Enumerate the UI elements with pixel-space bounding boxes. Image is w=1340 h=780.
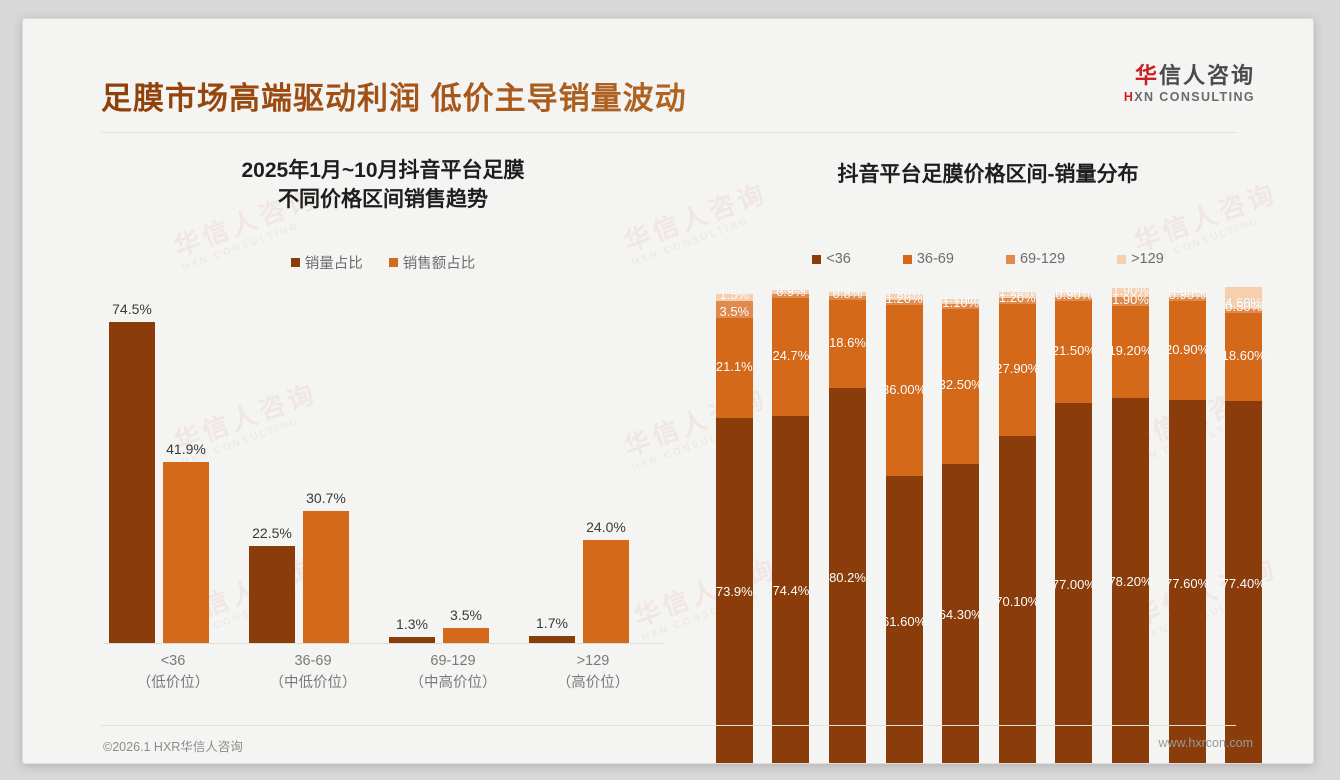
stack-value-label: 77.40% (1222, 576, 1266, 591)
footer-website: www.hxrcon.com (1159, 736, 1253, 750)
slide-header: 足膜市场高端驱动利润 低价主导销量波动 华信人咨询 HXN CONSULTING (23, 19, 1313, 119)
bar-value-label: 41.9% (166, 441, 206, 457)
left-chart-legend: 销量占比销售额占比 (83, 252, 683, 273)
x-axis-label-main: 36-69 (243, 651, 383, 673)
stacked-bar-M9[interactable]: 0.90%0.90%20.90%77.60% (1169, 293, 1206, 764)
stack-value-label: 0.9% (776, 284, 806, 299)
legend-label: >129 (1131, 251, 1164, 267)
x-axis-label-sub: （高价位） (523, 673, 663, 695)
x-axis-label-36-69: 36-69（中低价位） (243, 651, 383, 695)
legend-item-right-2[interactable]: 69-129 (1006, 251, 1065, 267)
left-chart-panel: 2025年1月~10月抖音平台足膜 不同价格区间销售趋势 销量占比销售额占比 7… (83, 139, 683, 709)
legend-swatch-icon (1117, 255, 1126, 264)
bar-value-label: 30.7% (306, 490, 346, 506)
stack-value-label: 24.7% (772, 348, 809, 363)
footer-copyright: ©2026.1 HXR华信人咨询 (103, 736, 243, 755)
legend-label: 销量占比 (305, 252, 363, 273)
stacked-bar-M4[interactable]: 1.20%1.20%36.00%61.60% (886, 294, 923, 764)
stack-value-label: 1.20% (999, 290, 1036, 305)
stack-segment-M7-36-69[interactable]: 21.50% (1055, 301, 1092, 403)
stack-value-label: 18.60% (1222, 348, 1266, 363)
bar->129-销售额占比[interactable]: 24.0% (583, 540, 629, 644)
stack-value-label: 0.50% (1225, 299, 1262, 314)
stack-value-label: 1.10% (942, 295, 979, 310)
bar-fill (249, 546, 295, 643)
stack-segment-M10-36-69[interactable]: 18.60% (1225, 313, 1262, 401)
stack-value-label: 21.1% (716, 359, 753, 374)
stack-value-label: 1.5% (719, 287, 749, 302)
stack-segment-M3-36-69[interactable]: 18.6% (829, 300, 866, 388)
stack-value-label: 73.9% (716, 584, 753, 599)
bar-fill (303, 511, 349, 643)
stack-value-label: 77.00% (1052, 577, 1096, 592)
stack-value-label: 36.00% (882, 382, 926, 397)
stack-segment-M7-<36[interactable]: 77.00% (1055, 403, 1092, 764)
x-axis-label-sub: （中低价位） (243, 673, 383, 695)
stack-segment-M5-36-69[interactable]: 32.50% (942, 309, 979, 463)
legend-swatch-icon (389, 258, 398, 267)
stack-segment-M2-<36[interactable]: 74.4% (772, 416, 809, 764)
bar-value-label: 24.0% (586, 519, 626, 535)
x-axis-label-69-129: 69-129（中高价位） (383, 651, 523, 695)
stacked-bar-M7[interactable]: 0.90%0.90%21.50%77.00% (1055, 293, 1092, 764)
bar-69-129-销售额占比[interactable]: 3.5% (443, 628, 489, 643)
bar-36-69-销售额占比[interactable]: 30.7% (303, 511, 349, 643)
page-title: 足膜市场高端驱动利润 低价主导销量波动 (101, 73, 687, 118)
left-chart-plot-area: 74.5%41.9%22.5%30.7%1.3%3.5%1.7%24.0% (103, 299, 663, 644)
stack-segment-M6-36-69[interactable]: 27.90% (999, 304, 1036, 437)
stack-value-label: 74.4% (772, 583, 809, 598)
slide-canvas: 足膜市场高端驱动利润 低价主导销量波动 华信人咨询 HXN CONSULTING… (22, 18, 1314, 764)
logo-chinese-text: 华信人咨询 (1124, 63, 1255, 88)
legend-item-left-1[interactable]: 销售额占比 (389, 252, 476, 273)
stack-value-label: 70.10% (995, 594, 1039, 609)
stack-segment-M1-<36[interactable]: 73.9% (716, 418, 753, 764)
stack-segment-M3-<36[interactable]: 80.2% (829, 388, 866, 764)
stack-value-label: 0.8% (833, 286, 863, 301)
logo-en-red-char: H (1124, 90, 1134, 104)
stack-value-label: 80.2% (829, 570, 866, 585)
logo-cn-rest: 信人咨询 (1159, 63, 1255, 88)
stack-value-label: 21.50% (1052, 343, 1096, 358)
stack-segment-M2-36-69[interactable]: 24.7% (772, 298, 809, 415)
stack-segment-M1-36-69[interactable]: 21.1% (716, 318, 753, 418)
legend-label: <36 (826, 251, 851, 267)
x-axis-label-main: <36 (103, 651, 243, 673)
x-axis-label->129: >129（高价位） (523, 651, 663, 695)
stacked-bar-M10[interactable]: 4.60%0.50%18.60%77.40% (1225, 287, 1262, 764)
header-divider (101, 132, 1236, 133)
stack-segment-M8-36-69[interactable]: 19.20% (1112, 306, 1149, 397)
x-axis-label-main: 69-129 (383, 651, 523, 673)
stack-value-label: 61.60% (882, 614, 926, 629)
x-axis-label-<36: <36（低价位） (103, 651, 243, 695)
bar-group: 1.7%24.0% (529, 540, 629, 644)
stack-value-label: 0.90% (1169, 287, 1206, 302)
bar-fill (443, 628, 489, 643)
bar-group: 1.3%3.5% (389, 628, 489, 643)
stack-value-label: 78.20% (1108, 574, 1152, 589)
legend-swatch-icon (291, 258, 300, 267)
bar-fill (529, 636, 575, 643)
legend-item-right-3[interactable]: >129 (1117, 251, 1164, 267)
bar-fill (163, 462, 209, 643)
stacked-bar-M3[interactable]: 0.8%0.8%18.6%80.2% (829, 292, 866, 764)
stack-value-label: 1.20% (886, 291, 923, 306)
right-chart-panel: 抖音平台足膜价格区间-销量分布 <3636-6969-129>129 1.5%3… (688, 139, 1288, 709)
bar-group: 74.5%41.9% (109, 322, 209, 643)
stack-segment-M4-36-69[interactable]: 36.00% (886, 305, 923, 476)
stack-segment-M9-<36[interactable]: 77.60% (1169, 400, 1206, 764)
stacked-bar-M8[interactable]: 1.90%1.90%19.20%78.20% (1112, 288, 1149, 764)
stack-value-label: 64.30% (939, 607, 983, 622)
bar-group: 22.5%30.7% (249, 511, 349, 643)
legend-label: 销售额占比 (403, 252, 476, 273)
stack-value-label: 20.90% (1165, 342, 1209, 357)
left-chart-axis-line (103, 643, 663, 644)
bar-value-label: 3.5% (450, 607, 482, 623)
footer-divider (101, 725, 1236, 726)
stack-segment-M9-36-69[interactable]: 20.90% (1169, 301, 1206, 400)
legend-swatch-icon (812, 255, 821, 264)
stack-value-label: 0.90% (1055, 287, 1092, 302)
stack-segment-M6-<36[interactable]: 70.10% (999, 436, 1036, 764)
logo-cn-red-char: 华 (1135, 63, 1159, 88)
right-chart-plot-area: 1.5%3.5%21.1%73.9%0.9%0.9%24.7%74.4%0.8%… (706, 294, 1272, 764)
stack-value-label: 3.5% (719, 304, 749, 319)
bar-fill (109, 322, 155, 643)
company-logo: 华信人咨询 HXN CONSULTING (1124, 63, 1255, 104)
left-chart-title-line1: 2025年1月~10月抖音平台足膜 (83, 157, 683, 186)
bar-value-label: 1.7% (536, 615, 568, 631)
left-chart-x-axis-labels: <36（低价位）36-69（中低价位）69-129（中高价位）>129（高价位） (103, 651, 663, 711)
bar-69-129-销量占比[interactable]: 1.3% (389, 637, 435, 643)
stack-segment-M1->129[interactable]: 1.5% (716, 294, 753, 301)
stack-segment-M8-<36[interactable]: 78.20% (1112, 398, 1149, 764)
bar->129-销量占比[interactable]: 1.7% (529, 636, 575, 643)
stack-segment-M4-<36[interactable]: 61.60% (886, 476, 923, 764)
stack-value-label: 77.60% (1165, 576, 1209, 591)
x-axis-label-sub: （低价位） (103, 673, 243, 695)
logo-english-text: HXN CONSULTING (1124, 90, 1255, 104)
stack-value-label: 18.6% (829, 335, 866, 350)
x-axis-label-main: >129 (523, 651, 663, 673)
right-chart-legend: <3636-6969-129>129 (688, 251, 1288, 267)
stack-value-label: 1.90% (1112, 292, 1149, 307)
bar-value-label: 22.5% (252, 525, 292, 541)
legend-item-right-0[interactable]: <36 (812, 251, 851, 267)
stacked-bar-M2[interactable]: 0.9%0.9%24.7%74.4% (772, 290, 809, 764)
x-axis-label-sub: （中高价位） (383, 673, 523, 695)
stack-value-label: 19.20% (1108, 343, 1152, 358)
bar-<36-销量占比[interactable]: 74.5% (109, 322, 155, 643)
stack-segment-M5-<36[interactable]: 64.30% (942, 464, 979, 764)
stack-segment-M10-<36[interactable]: 77.40% (1225, 401, 1262, 764)
stacked-bar-M1[interactable]: 1.5%3.5%21.1%73.9% (716, 294, 753, 764)
stacked-bar-M6[interactable]: 1.20%1.20%27.90%70.10% (999, 292, 1036, 764)
stack-segment-M8-69-129[interactable]: 1.90% (1112, 297, 1149, 306)
bar-value-label: 74.5% (112, 301, 152, 317)
bar-value-label: 1.3% (396, 616, 428, 632)
legend-swatch-icon (903, 255, 912, 264)
left-chart-title: 2025年1月~10月抖音平台足膜 不同价格区间销售趋势 (83, 157, 683, 215)
right-chart-title: 抖音平台足膜价格区间-销量分布 (688, 161, 1288, 190)
bar-36-69-销量占比[interactable]: 22.5% (249, 546, 295, 643)
legend-label: 69-129 (1020, 251, 1065, 267)
bar-fill (389, 637, 435, 643)
stack-value-label: 32.50% (939, 377, 983, 392)
logo-en-rest: XN CONSULTING (1134, 90, 1255, 104)
stack-segment-M1-69-129[interactable]: 3.5% (716, 301, 753, 318)
left-chart-title-line2: 不同价格区间销售趋势 (83, 186, 683, 215)
legend-label: 36-69 (917, 251, 954, 267)
bar-<36-销售额占比[interactable]: 41.9% (163, 462, 209, 643)
bar-fill (583, 540, 629, 644)
stacked-bar-M5[interactable]: 1.10%1.10%32.50%64.30% (942, 299, 979, 764)
legend-item-right-1[interactable]: 36-69 (903, 251, 954, 267)
legend-swatch-icon (1006, 255, 1015, 264)
legend-item-left-0[interactable]: 销量占比 (291, 252, 363, 273)
stack-value-label: 27.90% (995, 361, 1039, 376)
